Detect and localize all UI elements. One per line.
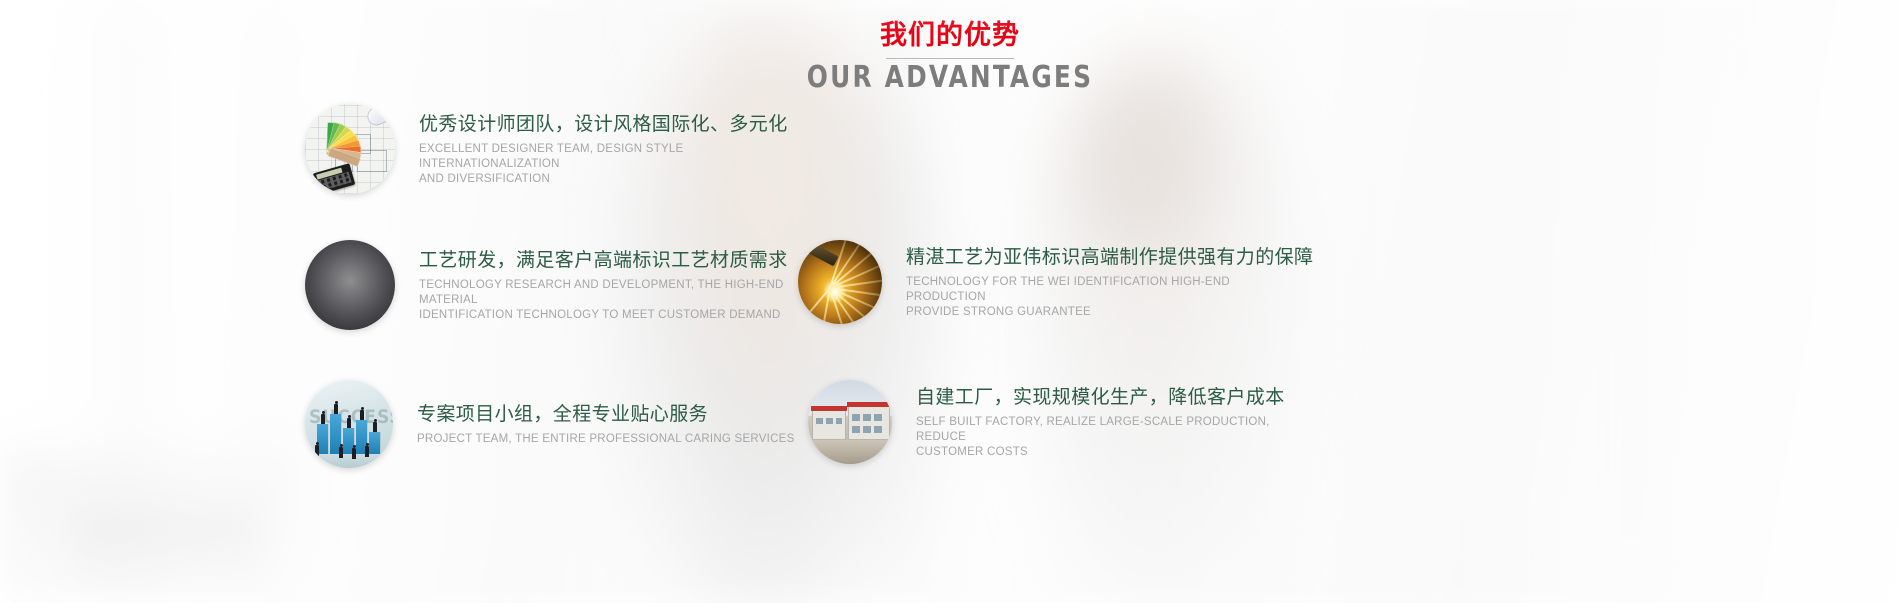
advantage-copy: 专案项目小组，全程专业贴心服务 PROJECT TEAM, THE ENTIRE… [417,402,795,447]
welding-sparks-icon [798,240,882,324]
heading-title-en: OUR ADVANTAGES [76,61,1824,95]
heading-divider [886,58,1014,59]
advantage-subtitle: TECHNOLOGY FOR THE WEI IDENTIFICATION HI… [906,275,1286,320]
advantage-item-self-built-factory[interactable]: 自建工厂，实现规模化生产，降低客户成本 SELF BUILT FACTORY, … [808,380,1296,464]
advantage-subtitle: SELF BUILT FACTORY, REALIZE LARGE-SCALE … [916,415,1296,460]
metal-machinery-icon [305,240,395,330]
advantage-title: 自建工厂，实现规模化生产，降低客户成本 [916,385,1296,411]
advantage-title: 精湛工艺为亚伟标识高端制作提供强有力的保障 [906,245,1313,271]
advantage-title: 工艺研发，满足客户高端标识工艺材质需求 [419,248,799,274]
advantage-item-designer-team[interactable]: 优秀设计师团队，设计风格国际化、多元化 EXCELLENT DESIGNER T… [305,104,799,194]
factory-building-icon [808,380,892,464]
advantage-subtitle-line1: SELF BUILT FACTORY, REALIZE LARGE-SCALE … [916,415,1296,445]
advantage-copy: 优秀设计师团队，设计风格国际化、多元化 EXCELLENT DESIGNER T… [419,112,799,187]
advantage-subtitle-line1: EXCELLENT DESIGNER TEAM, DESIGN STYLE IN… [419,142,799,172]
advantage-subtitle-line1: TECHNOLOGY FOR THE WEI IDENTIFICATION HI… [906,275,1286,305]
advantage-subtitle-line2: PROVIDE STRONG GUARANTEE [906,305,1286,320]
advantage-copy: 精湛工艺为亚伟标识高端制作提供强有力的保障 TECHNOLOGY FOR THE… [906,245,1313,320]
heading-title-cn: 我们的优势 [0,18,1900,52]
success-chart-icon: SUCCESS [305,380,393,468]
advantage-subtitle: PROJECT TEAM, THE ENTIRE PROFESSIONAL CA… [417,432,795,447]
advantage-item-project-team[interactable]: SUCCESS [305,380,795,468]
advantage-subtitle-line2: CUSTOMER COSTS [916,445,1296,460]
advantage-item-craftsmanship[interactable]: 精湛工艺为亚伟标识高端制作提供强有力的保障 TECHNOLOGY FOR THE… [798,240,1313,324]
advantage-item-technology-rd[interactable]: 工艺研发，满足客户高端标识工艺材质需求 TECHNOLOGY RESEARCH … [305,240,799,330]
advantage-subtitle-line2: IDENTIFICATION TECHNOLOGY TO MEET CUSTOM… [419,308,799,323]
advantage-title: 优秀设计师团队，设计风格国际化、多元化 [419,112,799,138]
section-heading: 我们的优势 OUR ADVANTAGES [0,18,1900,95]
advantage-copy: 工艺研发，满足客户高端标识工艺材质需求 TECHNOLOGY RESEARCH … [419,248,799,323]
advantage-title: 专案项目小组，全程专业贴心服务 [417,402,795,428]
color-swatch-blueprint-icon [305,104,395,194]
advantage-subtitle-line1: TECHNOLOGY RESEARCH AND DEVELOPMENT, THE… [419,278,799,308]
advantage-subtitle-line1: PROJECT TEAM, THE ENTIRE PROFESSIONAL CA… [417,432,795,447]
advantage-copy: 自建工厂，实现规模化生产，降低客户成本 SELF BUILT FACTORY, … [916,385,1296,460]
advantage-subtitle: TECHNOLOGY RESEARCH AND DEVELOPMENT, THE… [419,278,799,323]
advantage-subtitle: EXCELLENT DESIGNER TEAM, DESIGN STYLE IN… [419,142,799,187]
advantages-section: 我们的优势 OUR ADVANTAGES [0,0,1900,603]
advantage-subtitle-line2: AND DIVERSIFICATION [419,172,799,187]
